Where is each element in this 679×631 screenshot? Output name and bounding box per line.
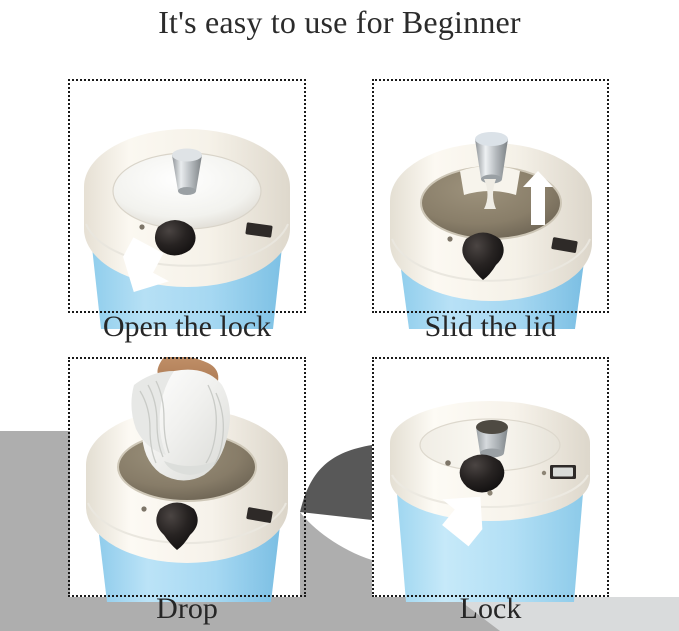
panel-slid-the-lid-frame (372, 79, 609, 313)
shadow-wedge-dark (300, 445, 372, 520)
panel-drop-frame (68, 357, 306, 597)
caption-step-4: Lock (372, 592, 609, 626)
shadow-wedge-light (300, 512, 372, 597)
caption-step-2: Slid the lid (372, 310, 609, 344)
panel-open-the-lock-frame (68, 79, 306, 313)
panel-lock-frame (372, 357, 609, 597)
infographic-stage: It's easy to use for Beginner (0, 0, 679, 631)
page-title: It's easy to use for Beginner (0, 0, 679, 44)
caption-step-3: Drop (68, 592, 306, 626)
floor-left-gray (0, 431, 70, 597)
caption-step-1: Open the lock (68, 310, 306, 344)
